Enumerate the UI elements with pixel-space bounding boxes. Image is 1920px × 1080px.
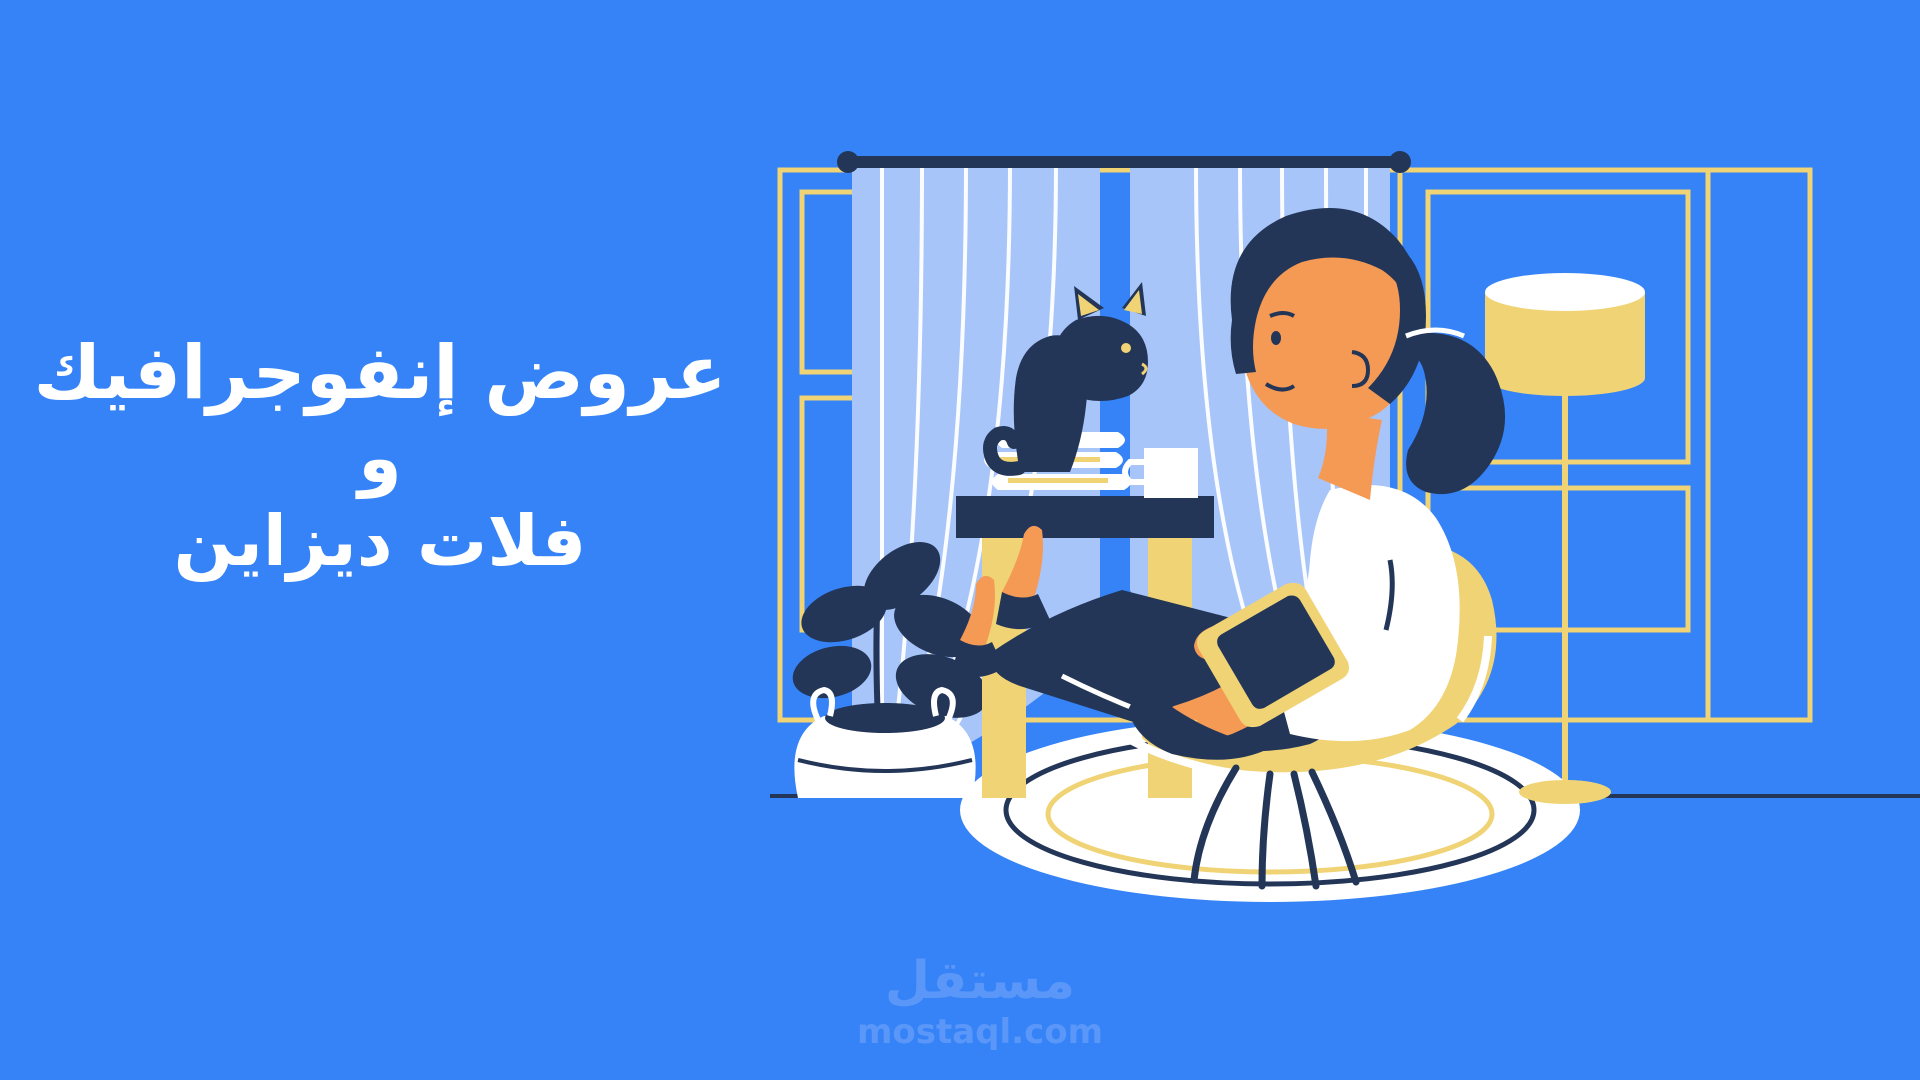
headline-line-3: فلات ديزاين — [0, 500, 760, 583]
illustration-artwork — [770, 120, 1920, 910]
floor-lamp-icon — [1485, 273, 1645, 804]
poster-canvas: عروض إنفوجرافيك و فلات ديزاين — [0, 0, 1920, 1080]
cat-eye — [1121, 343, 1131, 353]
headline-line-2: و — [0, 417, 760, 500]
watermark-logo: مستقل mostaql.com — [820, 955, 1140, 1049]
floor-lamp-base — [1519, 780, 1611, 804]
watermark-domain: mostaql.com — [820, 1015, 1140, 1049]
watermark-arabic: مستقل — [820, 955, 1140, 1007]
headline-line-1: عروض إنفوجرافيك — [0, 330, 760, 417]
woman-eye — [1271, 331, 1281, 345]
headline-block: عروض إنفوجرافيك و فلات ديزاين — [0, 330, 760, 583]
